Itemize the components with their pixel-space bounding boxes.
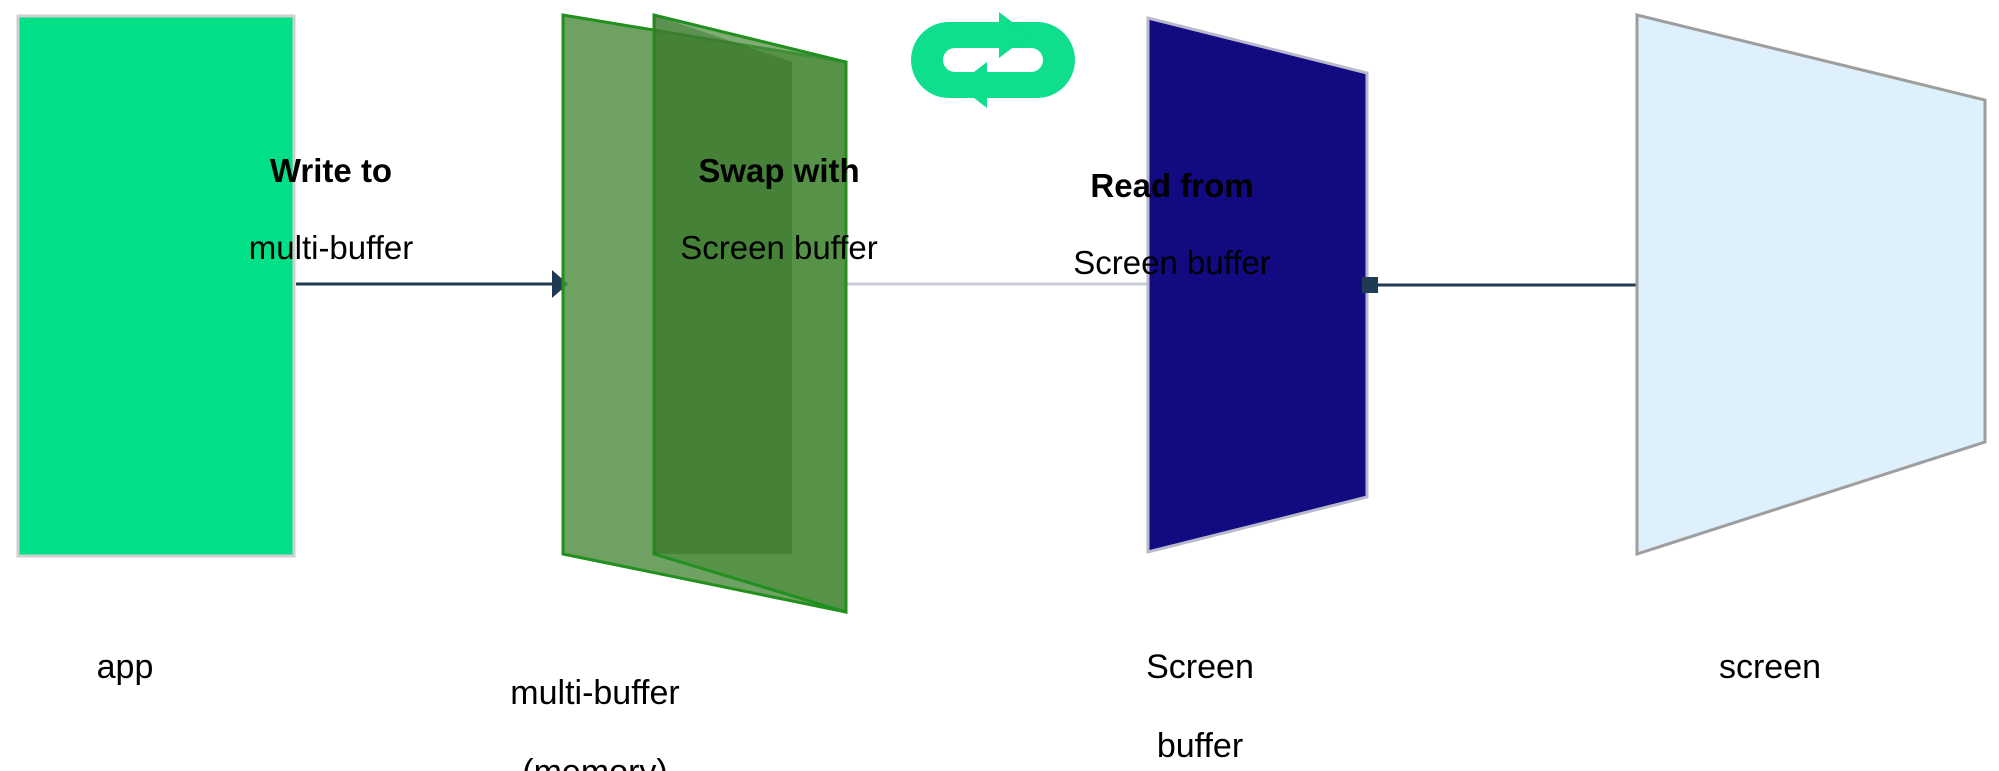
swap-loop-icon <box>903 10 1083 110</box>
write-edge-label-line1: Write to <box>183 152 479 191</box>
node-label-screen: screen <box>1640 608 1900 727</box>
node-multi-buffer <box>563 15 846 612</box>
node-label-screen-buffer-line2: buffer <box>1090 727 1310 767</box>
swap-edge-label: Swap with Screen buffer <box>629 113 929 306</box>
diagram-canvas: Write to multi-buffer Swap with Screen b… <box>0 0 1999 771</box>
edge-read-from <box>1362 277 1640 293</box>
node-label-multi-buffer: multi-buffer (memory) <box>445 634 745 771</box>
read-edge-label-line1: Read from <box>1022 167 1322 206</box>
read-edge-label-line2: Screen buffer <box>1022 244 1322 283</box>
node-label-screen-line1: screen <box>1640 648 1900 688</box>
read-edge-label: Read from Screen buffer <box>1022 128 1322 321</box>
node-label-screen-buffer-line1: Screen <box>1090 648 1310 688</box>
read-edge-source-marker <box>1362 277 1378 293</box>
node-label-multi-buffer-line1: multi-buffer <box>445 674 745 714</box>
write-edge-label: Write to multi-buffer <box>183 113 479 306</box>
screen-trapezoid <box>1637 15 1985 554</box>
node-screen <box>1637 15 1985 554</box>
node-label-app: app <box>25 608 225 727</box>
swap-edge-label-line1: Swap with <box>629 152 929 191</box>
node-label-screen-buffer: Screen buffer (memory) <box>1090 608 1310 771</box>
node-label-app-line1: app <box>25 648 225 688</box>
node-label-multi-buffer-line2: (memory) <box>445 753 745 771</box>
swap-edge-label-line2: Screen buffer <box>629 229 929 268</box>
swap-loop-icon-svg <box>903 10 1083 110</box>
write-edge-label-line2: multi-buffer <box>183 229 479 268</box>
